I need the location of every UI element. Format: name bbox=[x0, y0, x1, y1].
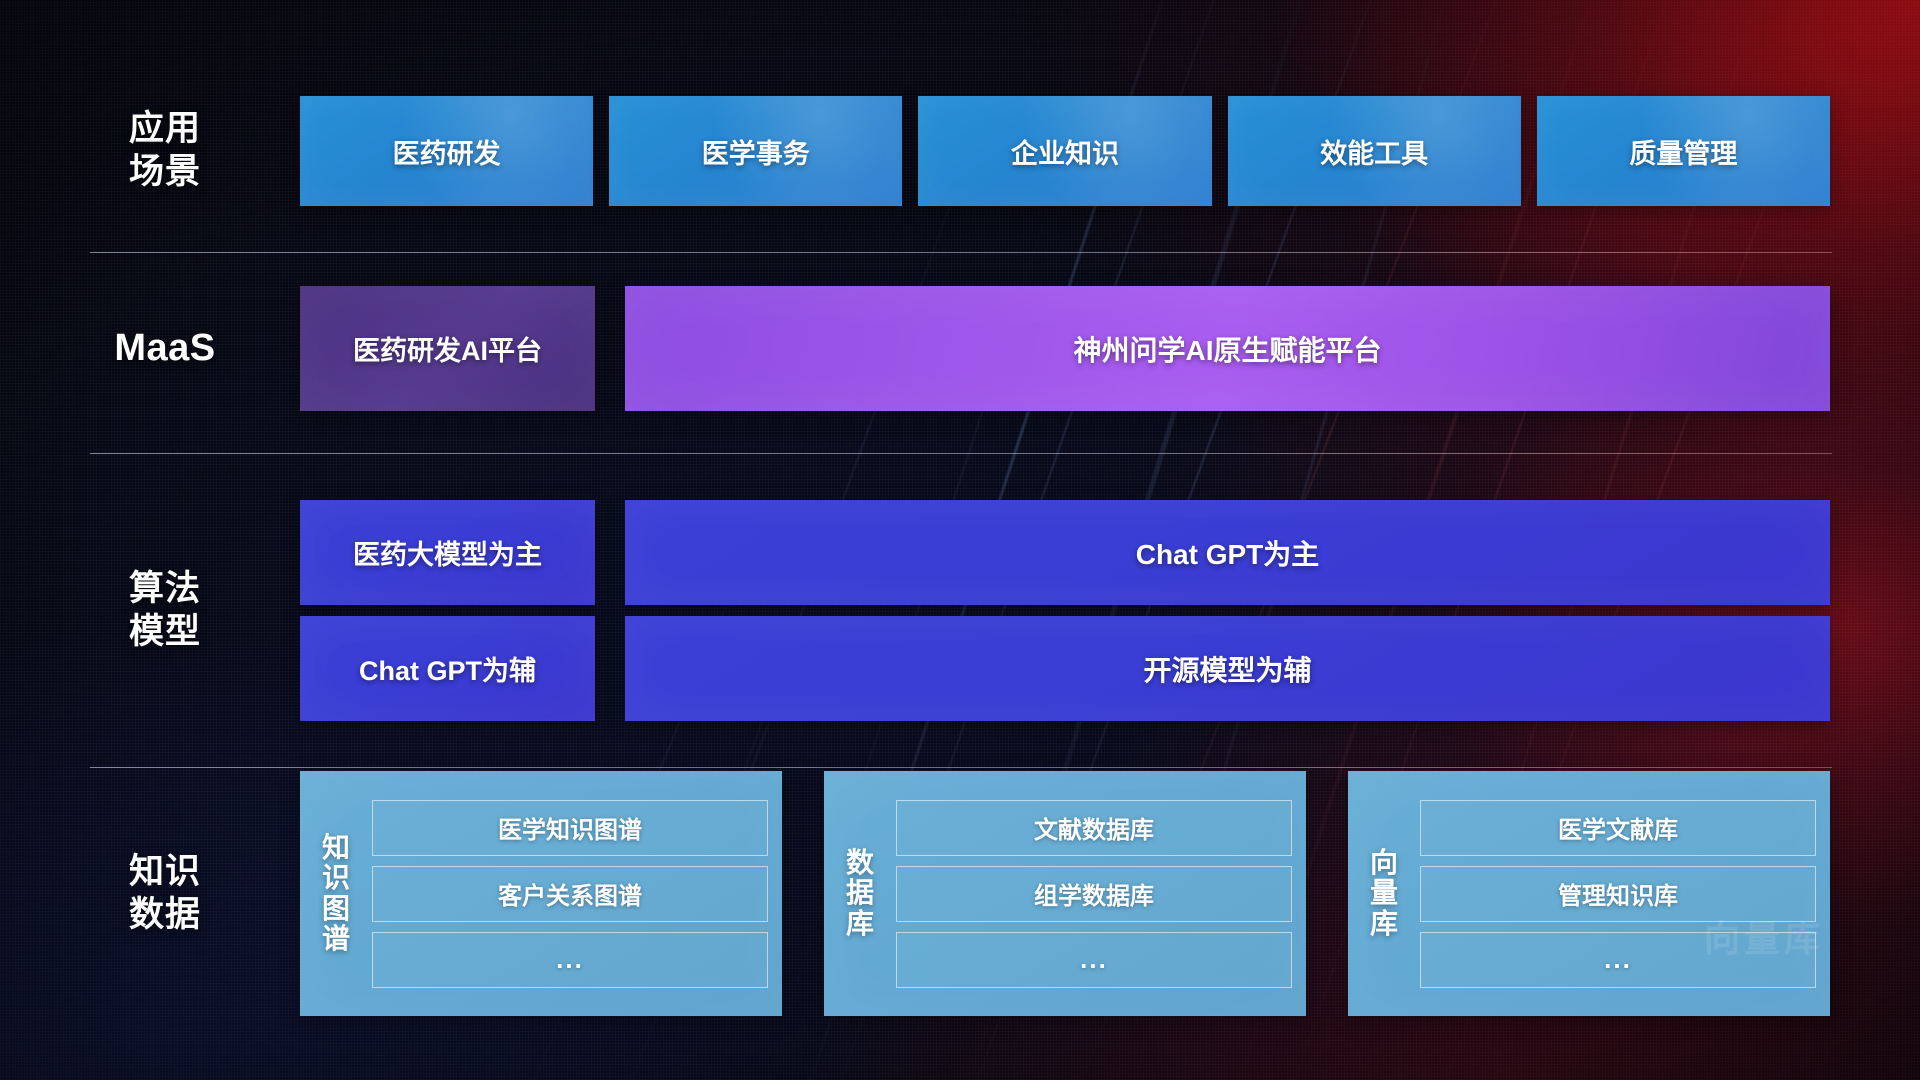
knowledge-data-item-list: 医学文献库管理知识库... bbox=[1420, 783, 1816, 1004]
knowledge-data-item[interactable]: 文献数据库 bbox=[896, 800, 1292, 856]
tier-label-line: 应用 bbox=[129, 108, 201, 151]
maas-platform-box[interactable]: 医药研发AI平台 bbox=[300, 286, 595, 411]
knowledge-data-item[interactable]: 医学文献库 bbox=[1420, 800, 1816, 856]
knowledge-data-panel[interactable]: 知识图谱医学知识图谱客户关系图谱... bbox=[300, 771, 782, 1016]
knowledge-data-item-list: 文献数据库组学数据库... bbox=[896, 783, 1292, 1004]
application-scenario-label: 企业知识 bbox=[1011, 132, 1119, 171]
tier-label-line: 数据 bbox=[129, 894, 201, 937]
knowledge-data-panel-label-char: 知 bbox=[322, 833, 350, 863]
architecture-diagram: 应用场景医药研发医学事务企业知识效能工具质量管理MaaS医药研发AI平台神州问学… bbox=[70, 96, 1850, 986]
tier-label-line: 场景 bbox=[129, 151, 201, 194]
diagram-stage: 应用场景医药研发医学事务企业知识效能工具质量管理MaaS医药研发AI平台神州问学… bbox=[0, 0, 1920, 1080]
algorithm-model-box-left[interactable]: Chat GPT为辅 bbox=[300, 616, 595, 721]
knowledge-data-item[interactable]: ... bbox=[372, 932, 768, 988]
tier-label-maas: MaaS bbox=[90, 286, 240, 411]
algorithm-model-label: Chat GPT为主 bbox=[1136, 533, 1320, 573]
knowledge-data-panel-label-char: 向 bbox=[1370, 848, 1398, 878]
knowledge-data-item[interactable]: ... bbox=[1420, 932, 1816, 988]
knowledge-data-item[interactable]: ... bbox=[896, 932, 1292, 988]
application-scenario-label: 医学事务 bbox=[702, 132, 810, 171]
knowledge-data-item[interactable]: 管理知识库 bbox=[1420, 866, 1816, 922]
knowledge-data-item[interactable]: 医学知识图谱 bbox=[372, 800, 768, 856]
knowledge-data-panel-label-char: 谱 bbox=[322, 924, 350, 954]
knowledge-data-panel-label-char: 量 bbox=[1370, 878, 1398, 908]
tier-divider bbox=[90, 453, 1832, 454]
knowledge-data-panel-label: 数据库 bbox=[824, 848, 896, 939]
tier-divider bbox=[90, 252, 1832, 253]
application-scenario-box[interactable]: 医学事务 bbox=[609, 96, 902, 206]
knowledge-data-panel-label-char: 数 bbox=[846, 848, 874, 878]
application-scenario-box[interactable]: 质量管理 bbox=[1537, 96, 1830, 206]
algorithm-model-box-left[interactable]: 医药大模型为主 bbox=[300, 500, 595, 605]
knowledge-data-panel-label-char: 识 bbox=[322, 863, 350, 893]
tier-label-line: 算法 bbox=[129, 568, 201, 611]
algorithm-model-label: 医药大模型为主 bbox=[353, 533, 542, 572]
knowledge-data-panel[interactable]: 数据库文献数据库组学数据库... bbox=[824, 771, 1306, 1016]
application-scenario-box[interactable]: 企业知识 bbox=[918, 96, 1211, 206]
knowledge-data-panel-label: 向量库 bbox=[1348, 848, 1420, 939]
knowledge-data-panel-label-char: 据 bbox=[846, 878, 874, 908]
knowledge-data-panel[interactable]: 向量库医学文献库管理知识库... bbox=[1348, 771, 1830, 1016]
application-scenario-box[interactable]: 医药研发 bbox=[300, 96, 593, 206]
tier-divider bbox=[90, 767, 1832, 768]
application-scenario-label: 医药研发 bbox=[393, 132, 501, 171]
algorithm-model-box-right[interactable]: 开源模型为辅 bbox=[625, 616, 1830, 721]
maas-enablement-platform-label: 神州问学AI原生赋能平台 bbox=[1073, 329, 1381, 369]
algorithm-model-label: Chat GPT为辅 bbox=[359, 649, 536, 688]
knowledge-data-item[interactable]: 组学数据库 bbox=[896, 866, 1292, 922]
maas-enablement-platform-box[interactable]: 神州问学AI原生赋能平台 bbox=[625, 286, 1830, 411]
tier-label-application-scenarios: 应用场景 bbox=[90, 96, 240, 206]
knowledge-data-panel-label-char: 库 bbox=[1370, 909, 1398, 939]
knowledge-data-panel-label-char: 图 bbox=[322, 894, 350, 924]
application-scenario-label: 效能工具 bbox=[1320, 132, 1428, 171]
application-scenario-label: 质量管理 bbox=[1629, 132, 1737, 171]
knowledge-data-panel-label: 知识图谱 bbox=[300, 833, 372, 954]
algorithm-model-label: 开源模型为辅 bbox=[1143, 649, 1311, 689]
tier-label-algorithm-model: 算法模型 bbox=[90, 500, 240, 721]
application-scenario-box[interactable]: 效能工具 bbox=[1228, 96, 1521, 206]
knowledge-data-item-list: 医学知识图谱客户关系图谱... bbox=[372, 783, 768, 1004]
knowledge-data-panel-label-char: 库 bbox=[846, 909, 874, 939]
maas-platform-label: 医药研发AI平台 bbox=[353, 329, 542, 368]
tier-label-line: MaaS bbox=[114, 325, 215, 371]
tier-label-line: 知识 bbox=[129, 851, 201, 894]
knowledge-data-item[interactable]: 客户关系图谱 bbox=[372, 866, 768, 922]
tier-label-knowledge-data: 知识数据 bbox=[90, 771, 240, 1016]
algorithm-model-box-right[interactable]: Chat GPT为主 bbox=[625, 500, 1830, 605]
tier-label-line: 模型 bbox=[129, 611, 201, 654]
